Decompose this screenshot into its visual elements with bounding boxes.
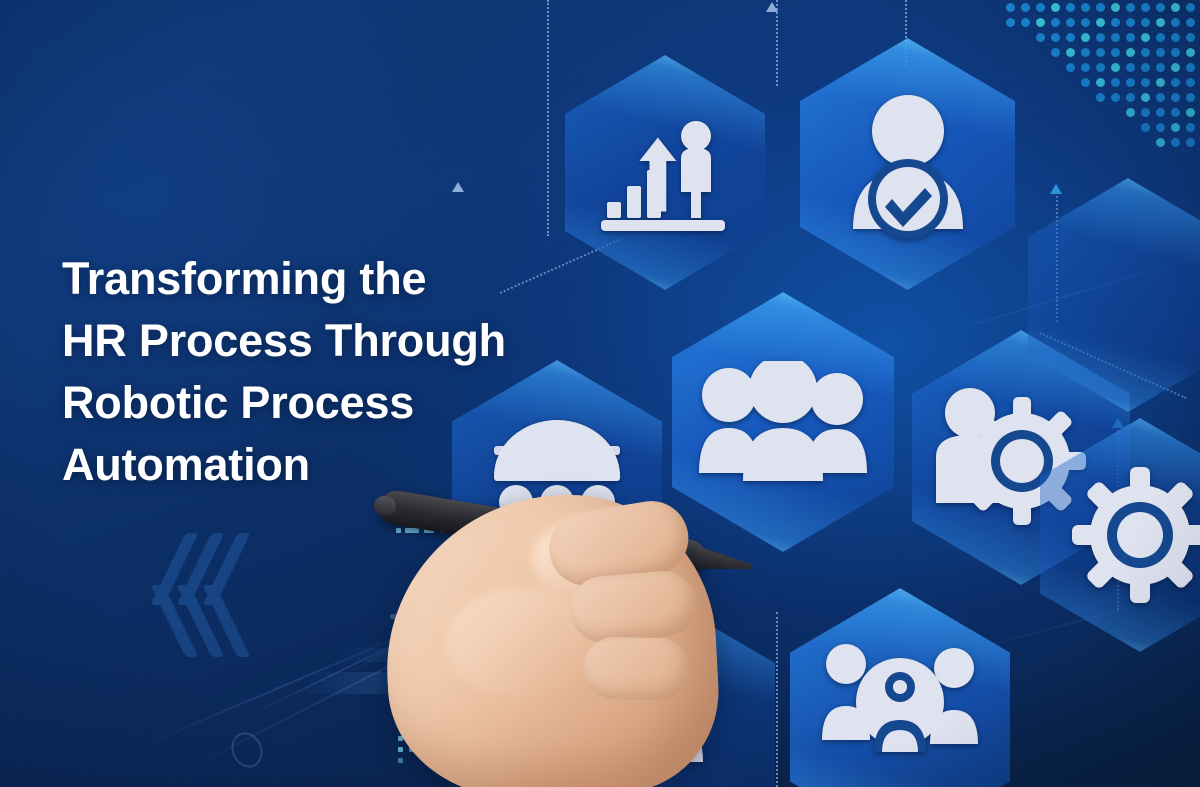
team-leader-circle-icon xyxy=(790,588,1010,787)
person-verified-check-icon xyxy=(800,38,1015,290)
hexagon-leadership[interactable] xyxy=(790,588,1010,787)
hand xyxy=(378,488,723,787)
hand-holding-stylus xyxy=(352,452,772,787)
hexagon-verified-employee[interactable] xyxy=(800,38,1015,290)
hr-rpa-banner: Transforming the HR Process Through Robo… xyxy=(0,0,1200,787)
